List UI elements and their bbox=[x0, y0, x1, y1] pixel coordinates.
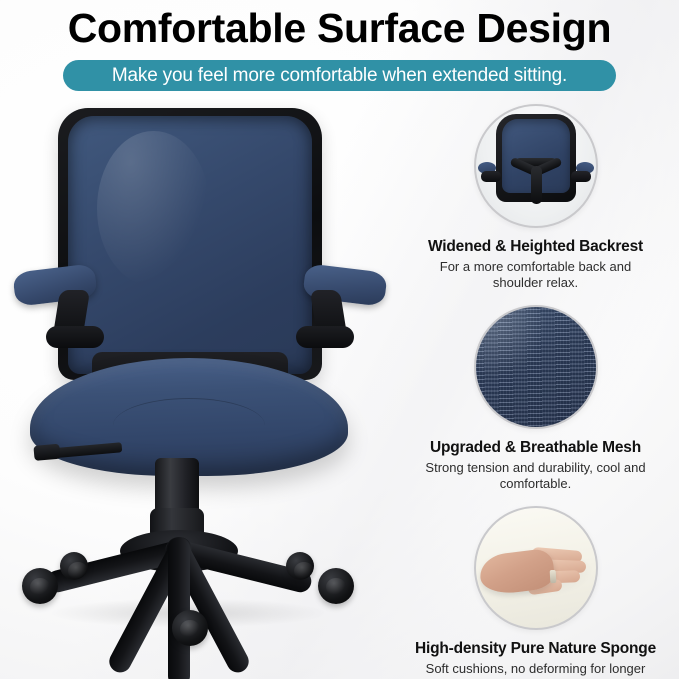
feature-list: Widened & Heighted Backrest For a more c… bbox=[392, 104, 679, 679]
rear-armrest-left bbox=[478, 162, 504, 186]
subtitle-badge: Make you feel more comfortable when exte… bbox=[63, 60, 616, 91]
armrest-right bbox=[296, 268, 388, 342]
backrest-rear-view-image bbox=[474, 104, 598, 228]
feature-description: For a more comfortable back and shoulder… bbox=[392, 259, 679, 291]
caster bbox=[318, 568, 354, 604]
mesh-fabric-image bbox=[474, 305, 598, 429]
page-title: Comfortable Surface Design bbox=[0, 6, 679, 50]
backrest-mesh bbox=[68, 116, 312, 374]
backrest-y-bracket bbox=[512, 158, 560, 204]
feature-description: Soft cushions, no deforming for longer t… bbox=[392, 661, 679, 679]
feature-title: Upgraded & Breathable Mesh bbox=[392, 438, 679, 457]
armrest-base-right bbox=[296, 326, 354, 348]
base-spoke bbox=[168, 537, 190, 679]
feature-description: Strong tension and durability, cool and … bbox=[392, 460, 679, 492]
product-infographic: Comfortable Surface Design Make you feel… bbox=[0, 0, 679, 679]
feature-item-backrest: Widened & Heighted Backrest For a more c… bbox=[392, 104, 679, 291]
caster bbox=[60, 552, 88, 580]
caster bbox=[286, 552, 314, 580]
backrest-highlight bbox=[97, 131, 209, 286]
finger-ring bbox=[549, 570, 556, 583]
armrest-base-left bbox=[46, 326, 104, 348]
subtitle-text: Make you feel more comfortable when exte… bbox=[112, 66, 567, 86]
seat-seam bbox=[113, 398, 266, 453]
feature-title: Widened & Heighted Backrest bbox=[392, 237, 679, 256]
header: Comfortable Surface Design Make you feel… bbox=[0, 0, 679, 100]
mesh-highlight bbox=[474, 305, 548, 379]
feature-title: High-density Pure Nature Sponge bbox=[392, 639, 679, 658]
rear-armrest-right bbox=[568, 162, 594, 186]
caster bbox=[172, 610, 208, 646]
armrest-left bbox=[12, 268, 104, 342]
feature-item-sponge: High-density Pure Nature Sponge Soft cus… bbox=[392, 506, 679, 679]
foam-cushion-image bbox=[474, 506, 598, 630]
main-product-image bbox=[0, 100, 400, 679]
feature-item-mesh: Upgraded & Breathable Mesh Strong tensio… bbox=[392, 305, 679, 492]
caster bbox=[22, 568, 58, 604]
